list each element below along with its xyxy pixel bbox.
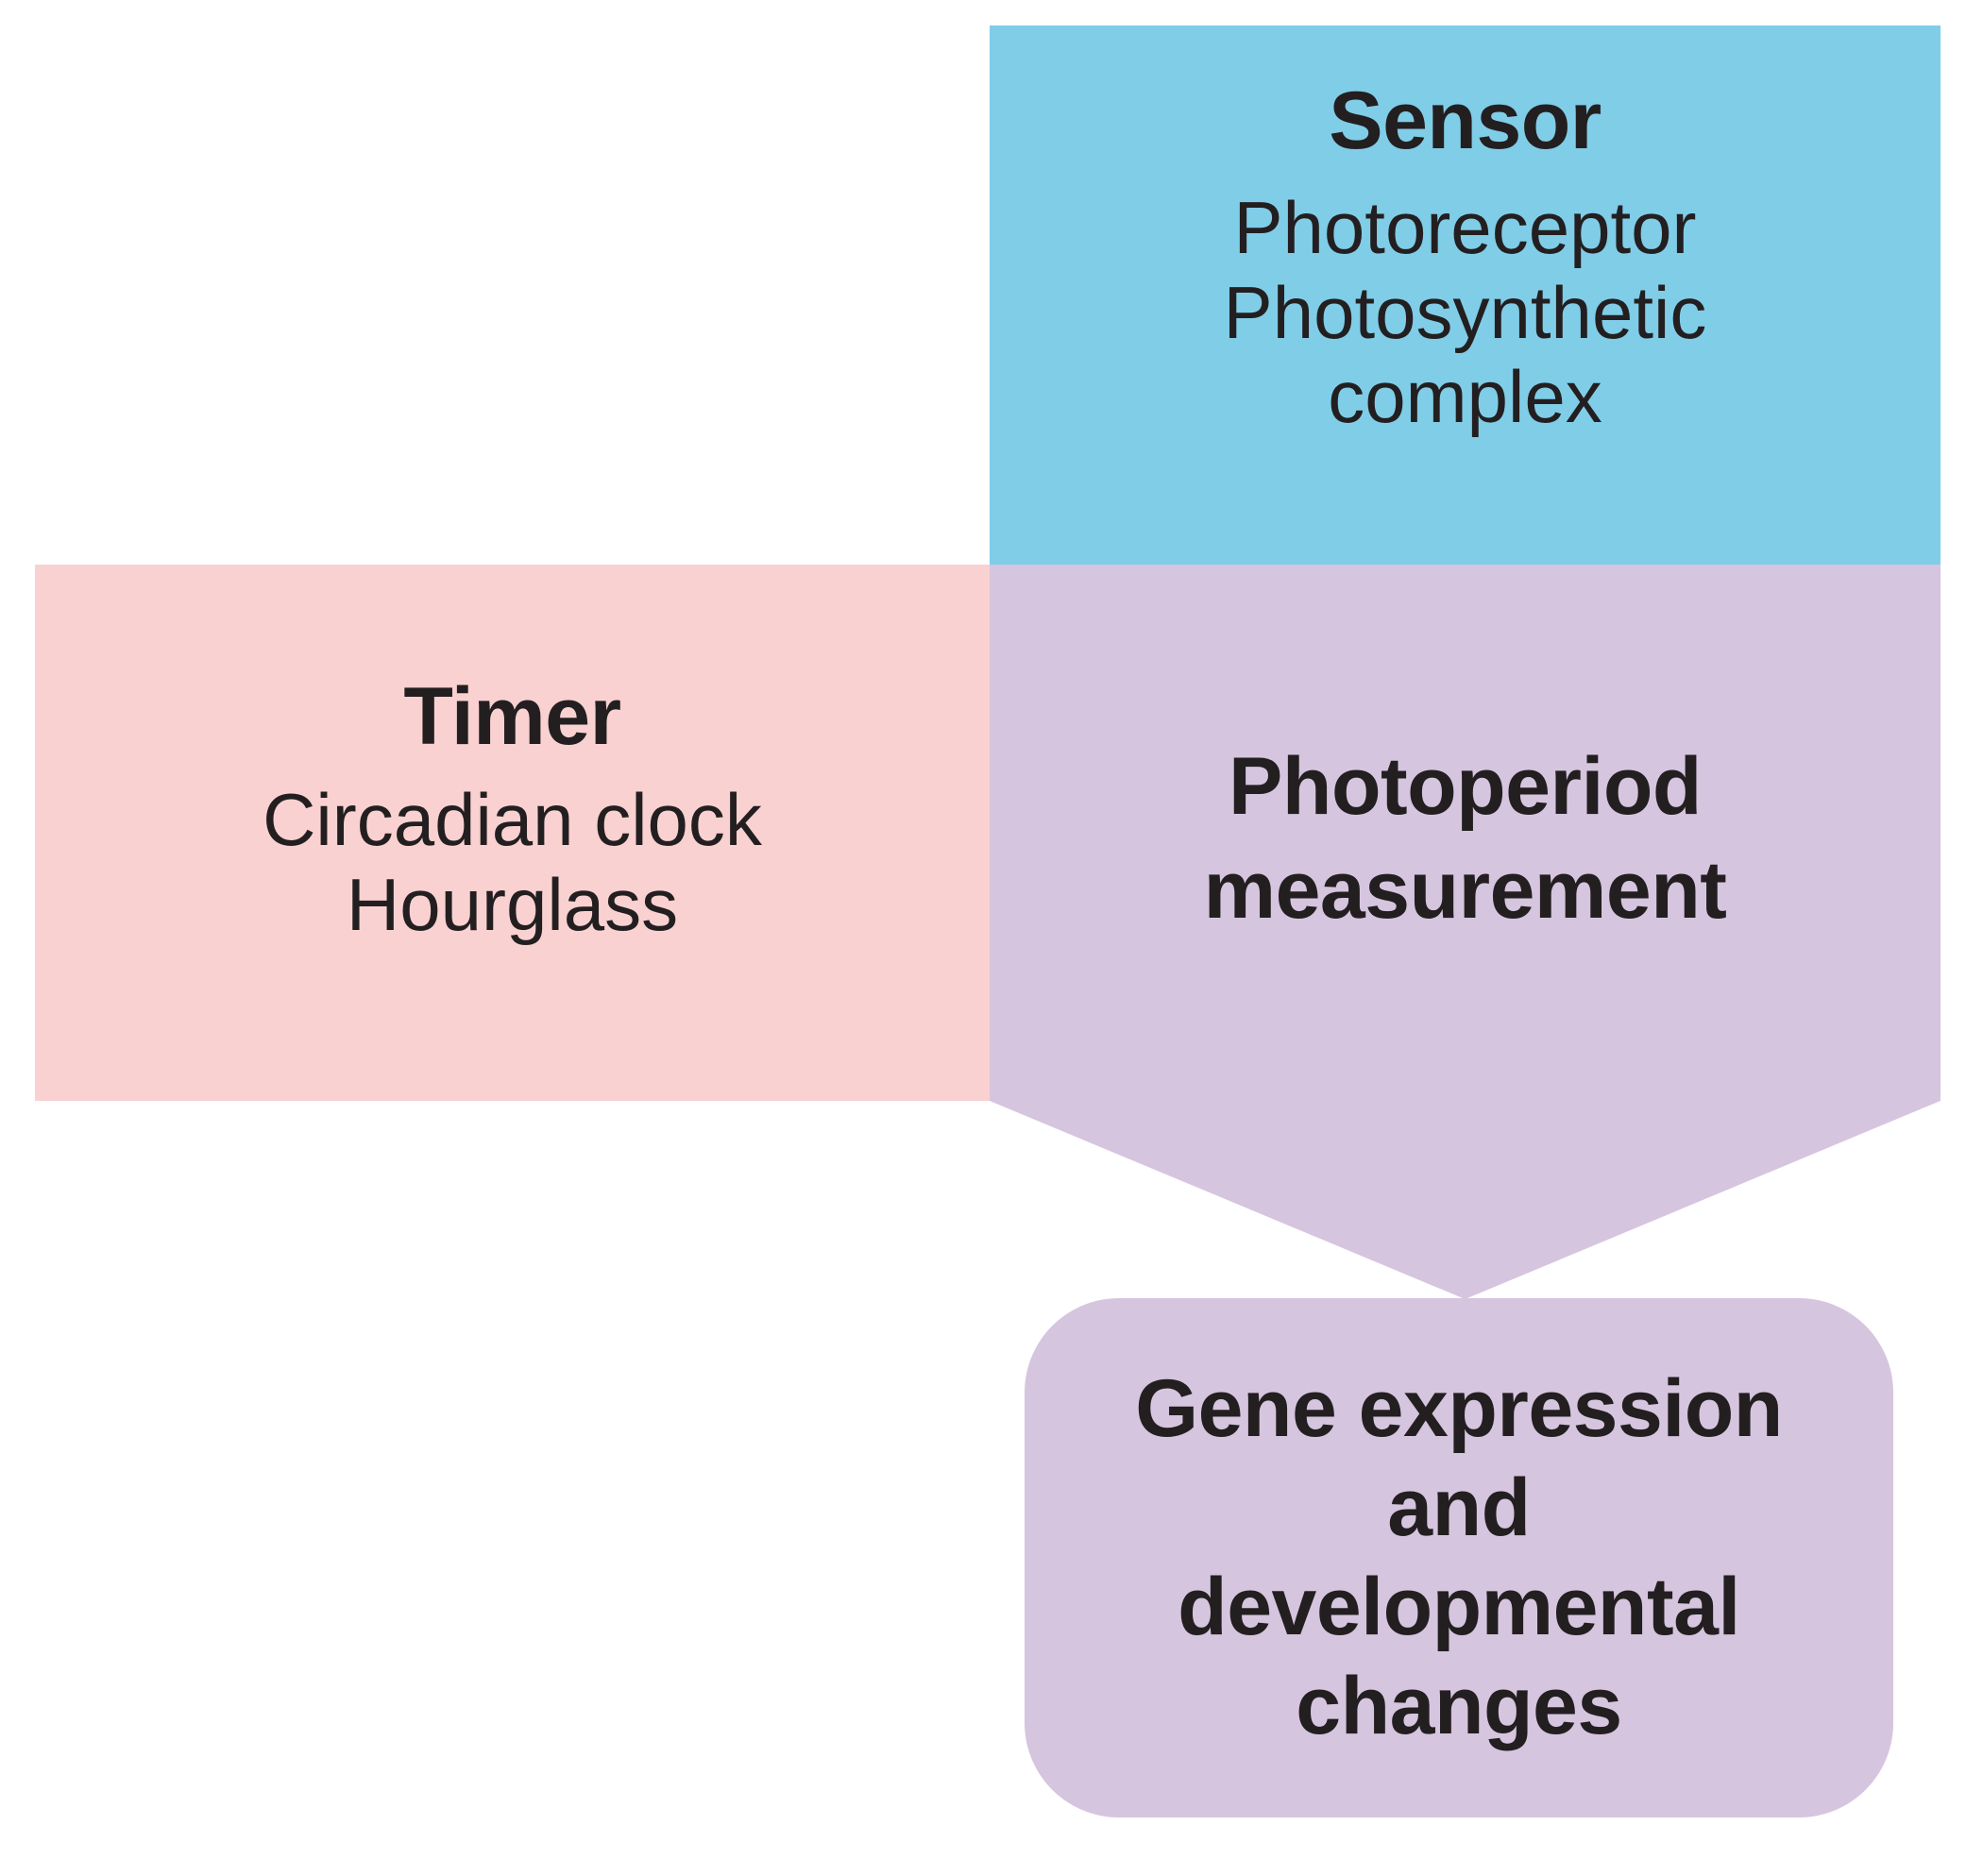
sensor-item-complex: complex: [1224, 355, 1707, 440]
timer-item-hourglass: Hourglass: [263, 863, 762, 948]
photoperiod-heading: Photoperiod measurement: [1204, 735, 1727, 942]
sensor-item-photosynthetic: Photosynthetic: [1224, 271, 1707, 356]
gene-expression-line2: and: [1135, 1459, 1783, 1558]
photoperiod-heading-line2: measurement: [1204, 838, 1727, 942]
sensor-item-photoreceptor: Photoreceptor: [1224, 186, 1707, 271]
photoperiod-heading-line1: Photoperiod: [1204, 735, 1727, 838]
sensor-item-list: Photoreceptor Photosynthetic complex: [1224, 186, 1707, 440]
gene-expression-line1: Gene expression: [1135, 1360, 1783, 1459]
photoperiod-measurement-arrow: Photoperiod measurement: [990, 565, 1941, 1299]
timer-item-circadian-clock: Circadian clock: [263, 778, 762, 863]
gene-expression-line4: changes: [1135, 1657, 1783, 1756]
gene-expression-box: Gene expression and developmental change…: [1025, 1298, 1893, 1817]
diagram-canvas: Sensor Photoreceptor Photosynthetic comp…: [0, 0, 1983, 1876]
sensor-heading: Sensor: [1329, 80, 1602, 161]
sensor-panel: Sensor Photoreceptor Photosynthetic comp…: [990, 25, 1941, 565]
gene-expression-heading: Gene expression and developmental change…: [1135, 1360, 1783, 1756]
timer-heading: Timer: [403, 676, 620, 757]
timer-item-list: Circadian clock Hourglass: [263, 778, 762, 947]
timer-panel: Timer Circadian clock Hourglass: [35, 565, 990, 1101]
gene-expression-line3: developmental: [1135, 1558, 1783, 1657]
